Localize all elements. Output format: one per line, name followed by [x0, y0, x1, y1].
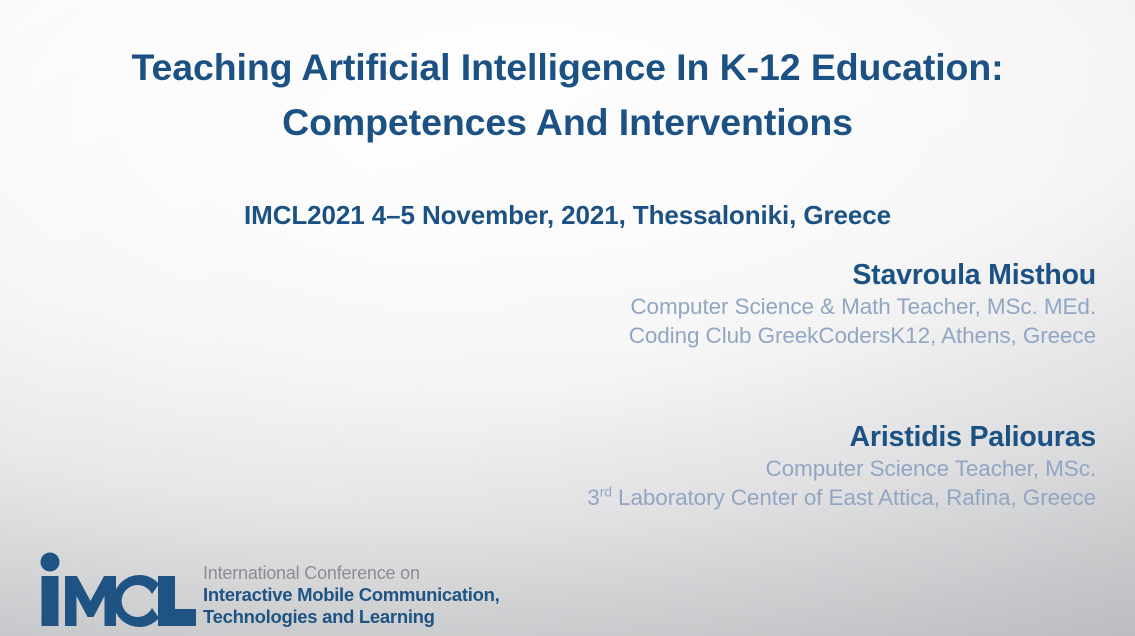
imcl-logo-tagline: International Conference on Interactive … — [203, 551, 499, 628]
slide-title: Teaching Artificial Intelligence In K-12… — [60, 40, 1075, 150]
ordinal-number: 3 — [587, 485, 599, 510]
author-name-1: Stavroula Misthou — [629, 258, 1096, 292]
author-affiliation-2-line-2: 3rd Laboratory Center of East Attica, Ra… — [587, 483, 1096, 512]
author-block-2: Aristidis Paliouras Computer Science Tea… — [587, 420, 1096, 512]
conference-venue-date: IMCL2021 4–5 November, 2021, Thessalonik… — [60, 200, 1075, 231]
imcl-wordmark-icon — [36, 551, 196, 631]
author-affiliation-2-line-1: Computer Science Teacher, MSc. — [587, 454, 1096, 483]
imcl-logo-mark — [36, 551, 196, 631]
presentation-slide: Teaching Artificial Intelligence In K-12… — [0, 0, 1135, 636]
logo-tagline-line-2: Interactive Mobile Communication, — [203, 584, 499, 606]
affiliation-2-line-2-rest: Laboratory Center of East Attica, Rafina… — [612, 485, 1096, 510]
author-name-2: Aristidis Paliouras — [587, 420, 1096, 454]
author-affiliation-1-line-1: Computer Science & Math Teacher, MSc. ME… — [629, 292, 1096, 321]
logo-tagline-line-3: Technologies and Learning — [203, 606, 499, 628]
logo-tagline-line-1: International Conference on — [203, 563, 499, 584]
slide-title-line-1: Teaching Artificial Intelligence In K-12… — [60, 40, 1075, 95]
slide-title-line-2: Competences And Interventions — [60, 95, 1075, 150]
author-block-1: Stavroula Misthou Computer Science & Mat… — [629, 258, 1096, 350]
author-affiliation-1-line-2: Coding Club GreekCodersK12, Athens, Gree… — [629, 321, 1096, 350]
ordinal-suffix: rd — [600, 484, 612, 500]
imcl-logo: International Conference on Interactive … — [36, 551, 499, 631]
